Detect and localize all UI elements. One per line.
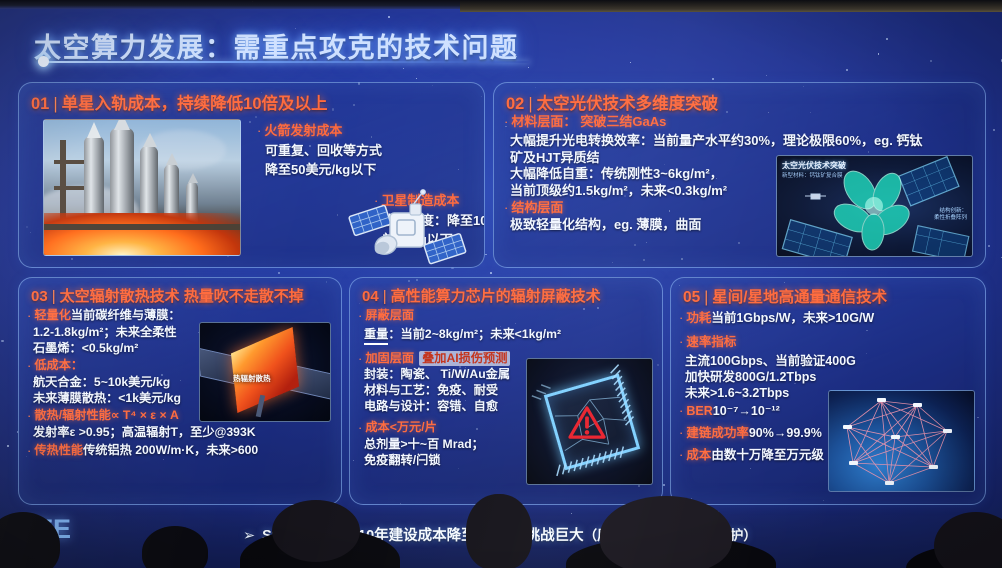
card-05-bullet-3: 加快研发800G/1.2Tbps [685, 369, 816, 385]
card-02-title: 太空光伏技术多维度突破 [537, 95, 719, 113]
bullet-dot-icon: · [27, 408, 31, 425]
card-05-number: 05 [683, 289, 700, 306]
card-05-bullet-0t: 当前1Gbps/W，未来>10G/W [711, 310, 874, 326]
card-02-separator: | [528, 95, 532, 113]
card-04-bullet-6t: <万元/片 [390, 420, 437, 436]
card-02-number: 02 [506, 95, 524, 113]
audience-head-5 [600, 496, 732, 568]
bullet-dot-icon: · [358, 351, 362, 368]
title-underline [44, 61, 530, 63]
card-04-bullet-0: 屏蔽层面 [365, 308, 414, 324]
card-02-bullet-0a: 材料层面： [511, 114, 576, 131]
card-05-separator: | [704, 289, 708, 306]
bullet-dot-icon: · [358, 308, 362, 325]
card-02-bullet-3: 大幅降低自重：传统刚性3~6kg/m²， [510, 166, 723, 183]
card-03-bullet-8s: 传热性能 [34, 443, 83, 459]
card-03-number: 03 [31, 288, 48, 305]
rocket-launch-photo [43, 119, 241, 256]
card-04-bullets: ·屏蔽层面 重量：当前2~8kg/m²；未来<1kg/m² ·加固层面叠加AI损… [358, 308, 561, 468]
card-04-bullet-8: 免疫翻转/闩锁 [364, 453, 441, 469]
card-02-bullet-6: 极致轻量化结构，eg. 薄膜，曲面 [510, 217, 701, 234]
card-05-bullet-6t: 90%→99.9% [749, 425, 822, 441]
card-04-bullet-6s: 成本 [365, 420, 389, 436]
card-05-bullet-5s: BER [686, 403, 712, 419]
card-04-bullet-4: 材料与工艺：免疫、耐受 [364, 383, 498, 399]
card-05-title: 星间/星地高通量通信技术 [712, 289, 887, 306]
card-01-bullets: ·火箭发射成本 可重复、回收等方式 降至50美元/kg以下 [257, 123, 382, 178]
slide-photo: 太空算力发展：需重点攻克的技术问题 01|单星入轨成本，持续降低10倍及以上 [0, 0, 1002, 568]
card-04-bullet-7: 总剂量>十~百 Mrad； [364, 437, 484, 453]
card-01-number: 01 [31, 95, 49, 113]
card-02-bullet-1: 大幅提升光电转换效率：当前量产水平约30%，理论极限60%，eg. 钙钛 [510, 133, 922, 150]
card-04-title: 高性能算力芯片的辐射屏蔽技术 [391, 288, 601, 305]
card-04-bullet-1: ：当前2~8kg/m²；未来<1kg/m² [388, 327, 561, 343]
card-05-header: 05|星间/星地高通量通信技术 [683, 285, 887, 307]
card-04-bullet-5: 电路与设计：容错、自愈 [364, 399, 498, 415]
card-05-bullet-7t: 由数十万降至万元级 [711, 447, 824, 463]
card-02: 02|太空光伏技术多维度突破 [493, 82, 986, 268]
bullet-dot-icon: · [27, 358, 31, 375]
card-03-bullet-4: 航天合金：5~10k美元/kg [33, 375, 170, 391]
card-03-bullet-0s: 轻量化 [34, 308, 71, 324]
card-01: 01|单星入轨成本，持续降低10倍及以上 [18, 82, 485, 268]
card-03-title: 太空辐射散热技术 热量吹不走散不掉 [60, 288, 304, 305]
bullet-dot-icon: · [679, 425, 683, 442]
card-02-bullet-2: 矿及HJT异质结 [510, 150, 600, 167]
audience-head-4 [466, 494, 532, 568]
bullet-dot-icon: · [257, 123, 261, 140]
card-03-bullet-5: 未来薄膜散热：<1k美元/kg [33, 391, 181, 407]
card-01-bullet-0: 火箭发射成本 [264, 123, 342, 140]
card-04-header: 04|高性能算力芯片的辐射屏蔽技术 [362, 285, 601, 306]
bullet-dot-icon: · [679, 447, 683, 464]
card-02-bullets: · 材料层面： 突破三结GaAs 大幅提升光电转换效率：当前量产水平约30%，理… [504, 114, 974, 234]
bullet-dot-icon: · [27, 308, 31, 325]
card-01-header: 01|单星入轨成本，持续降低10倍及以上 [31, 90, 328, 114]
bullet-dot-icon: · [679, 334, 683, 351]
card-05-bullet-6s: 建链成功率 [686, 425, 749, 441]
card-03-bullet-6t: ∝ T⁴ × ε × A [111, 408, 179, 424]
bullet-dot-icon: · [504, 114, 508, 131]
warning-triangle-icon [568, 406, 606, 439]
audience-head-3 [272, 500, 360, 562]
card-03-bullet-3: 低成本： [34, 358, 83, 374]
card-03-separator: | [52, 288, 56, 305]
card-03-header: 03|太空辐射散热技术 热量吹不走散不掉 [31, 285, 304, 306]
card-05-bullet-5t: 10⁻⁷→10⁻¹² [713, 403, 780, 419]
card-05: 05|星间/星地高通量通信技术 [670, 277, 986, 505]
card-03-bullet-7: 发射率ε >0.95；高温辐射T，至少@393K [33, 425, 256, 441]
card-02-header: 02|太空光伏技术多维度突破 [506, 90, 718, 114]
bullet-dot-icon: · [27, 443, 31, 460]
card-03-bullet-8t: 传统铝热 200W/m·K，未来>600 [83, 443, 258, 459]
card-01-bullet-2: 降至50美元/kg以下 [265, 162, 376, 179]
card-03-bullets: ·轻量化 当前碳纤维与薄膜： 1.2-1.8kg/m²；未来全柔性 石墨烯：<0… [27, 308, 258, 460]
card-05-bullet-0s: 功耗 [686, 310, 711, 326]
card-03-bullet-0t: 当前碳纤维与薄膜： [71, 308, 181, 324]
card-03-bullet-6s: 散热/辐射性能 [34, 408, 111, 424]
card-05-bullet-4: 未来>1.6~3.2Tbps [685, 385, 789, 401]
card-03-bullet-1: 1.2-1.8kg/m²；未来全柔性 [33, 325, 177, 341]
card-04-bullet-2: 加固层面 [365, 351, 414, 367]
card-04-bullet-3: 封装：陶瓷、 Ti/W/Au金属 [364, 367, 510, 383]
card-02-bullet-5: 结构层面 [511, 200, 563, 217]
card-01-bullet-1: 可重复、回收等方式 [265, 143, 382, 160]
card-04-separator: | [383, 288, 387, 305]
card-04-bullet-2-highlight: 叠加AI损伤预测 [419, 351, 510, 367]
card-03-bullet-2: 石墨烯：<0.5kg/m² [33, 341, 138, 357]
card-02-bullet-0b: 突破三结GaAs [580, 114, 666, 131]
card-01-title: 单星入轨成本，持续降低10倍及以上 [62, 95, 328, 113]
bullet-dot-icon: · [504, 200, 508, 217]
card-05-bullets: ·功耗 当前1Gbps/W，未来>10G/W ·速率指标 主流100Gbps、当… [679, 310, 874, 463]
slide-title-block: 太空算力发展：需重点攻克的技术问题 [34, 26, 519, 65]
card-05-bullet-2: 主流100Gbps、当前验证400G [685, 353, 856, 369]
card-04-number: 04 [362, 288, 379, 305]
card-03: 03|太空辐射散热技术 热量吹不走散不掉 热辐射散热 ·轻量化 当前碳纤维与薄膜… [18, 277, 342, 505]
bullet-dot-icon: · [679, 403, 683, 420]
card-05-bullet-1: 速率指标 [686, 334, 736, 350]
card-04-bullet-1-label: 重量 [364, 327, 388, 345]
satellite-illustration [344, 187, 474, 268]
bullet-dot-icon: · [679, 310, 683, 327]
title-dot-icon [38, 56, 49, 67]
bullet-dot-icon: · [358, 420, 362, 437]
card-04: 04|高性能算力芯片的辐射屏蔽技术 [349, 277, 663, 505]
card-05-bullet-7s: 成本 [686, 447, 711, 463]
card-01-separator: | [53, 95, 57, 113]
card-02-bullet-4: 当前顶级约1.5kg/m²，未来<0.3kg/m² [510, 183, 727, 200]
page-title: 太空算力发展：需重点攻克的技术问题 [34, 26, 519, 65]
screen-bezel-top-right [460, 0, 1002, 12]
